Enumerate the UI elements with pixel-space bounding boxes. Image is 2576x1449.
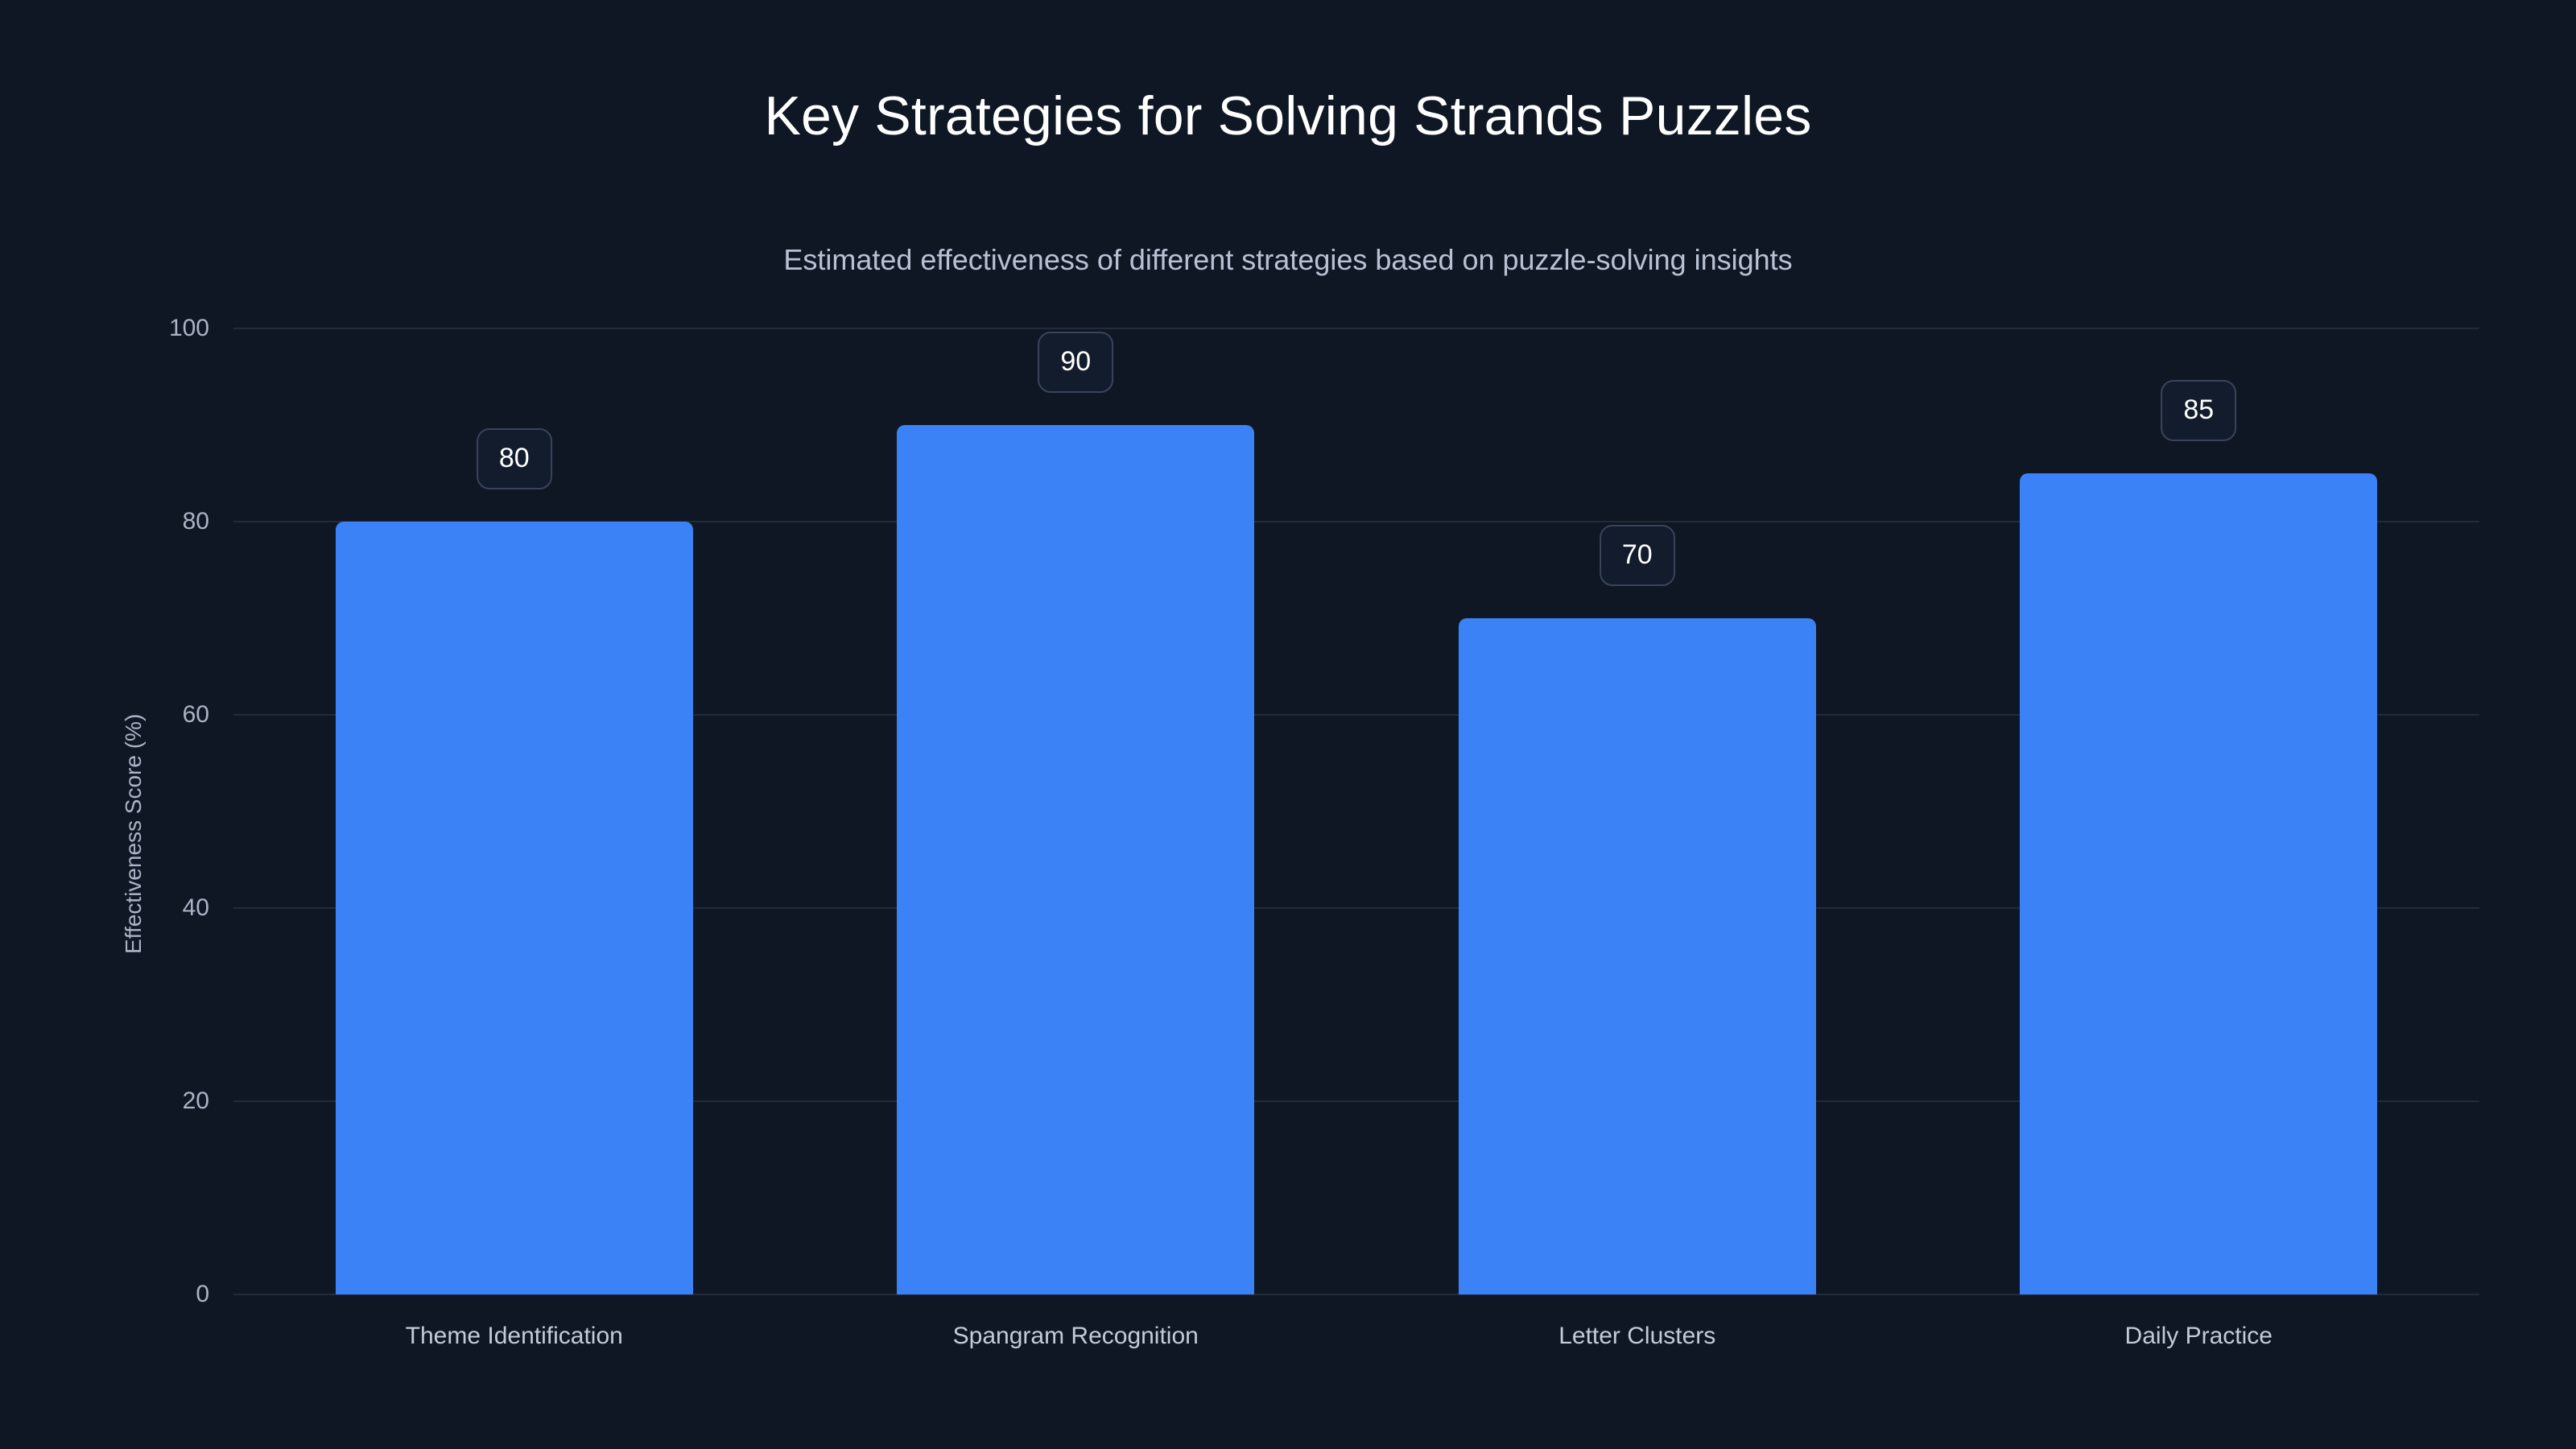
gridline <box>233 328 2479 329</box>
y-axis-tick-label: 100 <box>121 316 209 341</box>
bar-value-label: 85 <box>2161 380 2236 441</box>
bar-value-label: 90 <box>1038 332 1113 393</box>
x-axis-tick-label: Letter Clusters <box>1558 1324 1715 1348</box>
y-axis-tick-label: 20 <box>121 1089 209 1113</box>
y-axis-tick-label: 40 <box>121 896 209 920</box>
plot-area <box>233 328 2479 1294</box>
bar-chart-figure: Key Strategies for Solving Strands Puzzl… <box>0 0 2576 1449</box>
bar-value-label: 70 <box>1600 525 1675 586</box>
bar[interactable] <box>1459 618 1816 1294</box>
x-axis-tick-label: Spangram Recognition <box>953 1324 1199 1348</box>
y-axis-tick-label: 80 <box>121 510 209 534</box>
x-axis-tick-label: Theme Identification <box>406 1324 623 1348</box>
bar[interactable] <box>897 425 1254 1294</box>
x-axis-tick-label: Daily Practice <box>2125 1324 2273 1348</box>
y-axis-tick-label: 0 <box>121 1282 209 1307</box>
y-axis-tick-label: 60 <box>121 703 209 727</box>
bar[interactable] <box>2020 473 2377 1294</box>
bar-value-label: 80 <box>477 428 552 489</box>
bar[interactable] <box>336 522 693 1294</box>
